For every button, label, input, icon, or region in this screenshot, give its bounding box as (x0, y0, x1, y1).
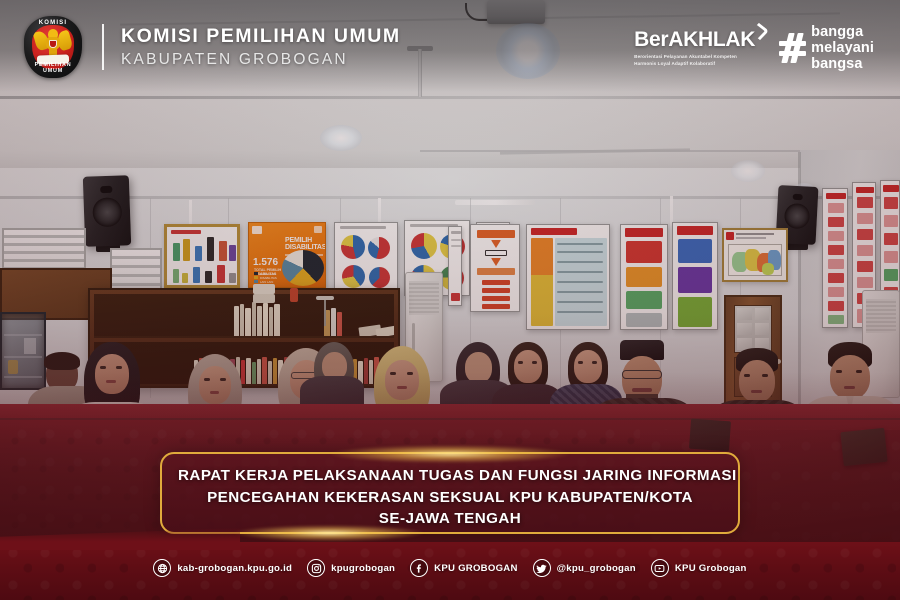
garuda-shield-icon (49, 40, 57, 48)
berakhlak-tagline-1: Berorientasi Pelayanan Akuntabel Kompete… (634, 54, 755, 61)
page-subtitle: KABUPATEN GROBOGAN (121, 52, 401, 68)
poster-canvas: PEMILIHDISABILITAS 1.576 TOTAL PEMILIHDI… (0, 0, 900, 600)
bangga-line-1: bangga (811, 24, 874, 40)
wall-speaker-left (83, 175, 131, 247)
social-link-label: kpugrobogan (331, 563, 395, 574)
speaker-cone (784, 203, 810, 229)
facebook-icon (410, 559, 428, 577)
poster-chart-board (164, 224, 240, 288)
social-link-label: KPU Grobogan (675, 563, 747, 574)
poster-flowchart (470, 224, 520, 312)
header-brand: KOMISI PEMILIHAN UMUM KOMISI PEMILIHAN U… (24, 16, 401, 78)
ceiling-light (320, 125, 362, 151)
caption-line-3: SE-JAWA TENGAH (178, 508, 722, 530)
header-title-group: KOMISI PEMILIHAN UMUM KABUPATEN GROBOGAN (121, 27, 401, 68)
lamp-shade (316, 296, 334, 300)
poster-side-partial (448, 226, 462, 306)
event-caption-box: RAPAT KERJA PELAKSANAAN TUGAS DAN FUNGSI… (160, 452, 740, 534)
ac-grill (866, 299, 896, 333)
bangga-line-2: melayani (811, 40, 874, 56)
social-link-instagram[interactable]: kpugrobogan (307, 559, 395, 577)
laptop-on-table (689, 419, 731, 452)
bangga-wordmark: bangga melayani bangsa (811, 24, 874, 73)
lamp-stand (324, 300, 326, 326)
logo-ring-bottom-text: PEMILIHAN UMUM (24, 62, 82, 74)
berakhlak-tagline-2: Harmonis Loyal Adaptif Kolaboratif (634, 61, 755, 68)
shelf-box (253, 284, 275, 294)
ceiling-light (731, 160, 765, 182)
berakhlak-wordmark: BerAKHLAK (634, 28, 755, 52)
poster-steps-purple (672, 222, 718, 330)
social-link-label: KPU GROBOGAN (434, 563, 517, 574)
berakhlak-logo: BerAKHLAK Berorientasi Pelayanan Akuntab… (634, 28, 755, 68)
youtube-icon (651, 559, 669, 577)
social-links-row: kab-grobogan.kpu.go.idkpugroboganKPU GRO… (0, 559, 900, 577)
twitter-icon (533, 559, 551, 577)
poster-pie-charts-1 (334, 222, 398, 294)
hashtag-icon (779, 33, 806, 63)
wall-trim-rail (0, 196, 900, 199)
header-bar: KOMISI PEMILIHAN UMUM KOMISI PEMILIHAN U… (0, 0, 900, 92)
laptop-right (840, 428, 887, 466)
poster-disability-voters: PEMILIHDISABILITAS 1.576 TOTAL PEMILIHDI… (248, 222, 326, 288)
footer-bar: kab-grobogan.kpu.go.idkpugroboganKPU GRO… (0, 542, 900, 600)
caption-text: RAPAT KERJA PELAKSANAAN TUGAS DAN FUNGSI… (162, 454, 738, 530)
header-logos-right: BerAKHLAK Berorientasi Pelayanan Akuntab… (634, 24, 874, 73)
social-link-facebook[interactable]: KPU GROBOGAN (410, 559, 517, 577)
speaker-tweeter (100, 186, 112, 193)
page-title: KOMISI PEMILIHAN UMUM (121, 27, 401, 47)
fluorescent-tube (455, 200, 535, 205)
bangga-line-3: bangsa (811, 56, 874, 72)
header-divider (102, 24, 104, 70)
ac-grill (409, 281, 439, 315)
shelf-box (253, 294, 275, 303)
poster-schedule-table (526, 224, 610, 330)
social-link-youtube[interactable]: KPU Grobogan (651, 559, 747, 577)
caption-line-1: RAPAT KERJA PELAKSANAAN TUGAS DAN FUNGSI… (178, 465, 722, 487)
bangga-melayani-bangsa-logo: bangga melayani bangsa (779, 24, 874, 73)
instagram-icon (307, 559, 325, 577)
shelf-vase (290, 288, 298, 302)
social-link-label: kab-grobogan.kpu.go.id (177, 563, 292, 574)
poster-org-chart-1 (822, 188, 848, 328)
social-link-label: @kpu_grobogan (557, 563, 636, 574)
globe-icon (153, 559, 171, 577)
framed-regional-map (722, 228, 788, 282)
speaker-cone (92, 198, 121, 227)
social-link-twitter[interactable]: @kpu_grobogan (533, 559, 636, 577)
ceiling-beam (0, 96, 900, 99)
social-link-globe[interactable]: kab-grobogan.kpu.go.id (153, 559, 292, 577)
kpu-garuda-shield-logo: KOMISI PEMILIHAN UMUM (24, 16, 82, 78)
speaker-tweeter (793, 194, 804, 200)
caption-line-2: PENCEGAHAN KEKERASAN SEKSUAL KPU KABUPAT… (178, 487, 722, 509)
poster-steps-colored (620, 224, 668, 330)
